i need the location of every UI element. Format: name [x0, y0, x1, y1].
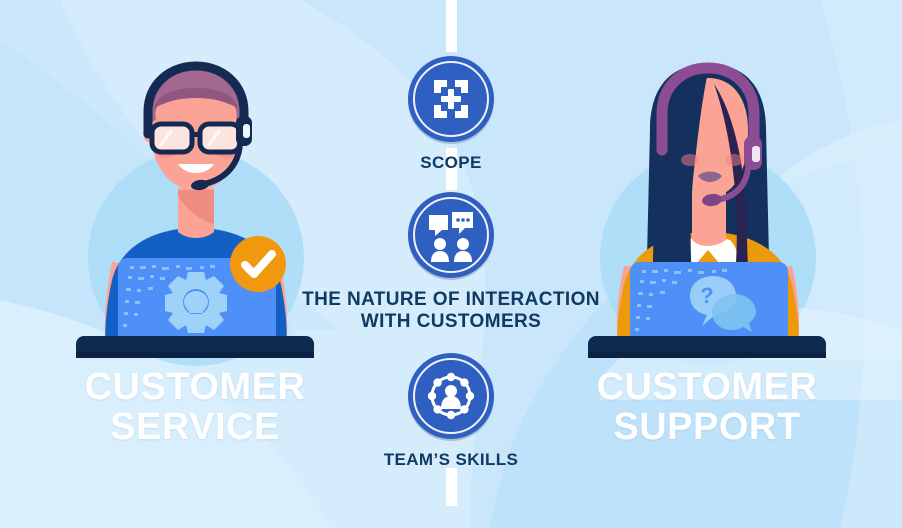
gear-lightbulb-icon	[165, 272, 227, 333]
chat-bubbles-two-people-icon	[408, 192, 494, 278]
svg-text:?: ?	[700, 283, 713, 308]
right-panel-title: CUSTOMER SUPPORT	[542, 368, 872, 448]
axis-label-nature-of-interaction: THE NATURE OF INTERACTION WITH CUSTOMERS	[301, 289, 601, 333]
divider-segment-bottom	[446, 468, 457, 506]
axis-label-scope: SCOPE	[301, 153, 601, 173]
interaction-badge[interactable]	[408, 192, 494, 278]
axis-label-team-skills: TEAM’S SKILLS	[301, 450, 601, 470]
scope-badge[interactable]	[408, 56, 494, 142]
axis-item-scope[interactable]: SCOPE	[301, 56, 601, 173]
divider-segment-top	[446, 0, 457, 52]
left-panel-title: CUSTOMER SERVICE	[30, 368, 360, 448]
female-support-agent: ?	[588, 64, 826, 358]
comparison-axis-column: SCOPE	[301, 0, 601, 528]
orange-check-badge	[230, 236, 286, 292]
left-title-line-2: SERVICE	[30, 408, 360, 448]
left-title-line-1: CUSTOMER	[85, 366, 306, 408]
right-title-line-1: CUSTOMER	[597, 366, 818, 408]
axis-label-line-2: WITH CUSTOMERS	[361, 311, 541, 332]
scope-crosshair-plus-icon	[408, 56, 494, 142]
team-skills-badge[interactable]	[408, 353, 494, 439]
infographic-canvas: ?	[0, 0, 902, 528]
axis-item-nature-of-interaction[interactable]: THE NATURE OF INTERACTION WITH CUSTOMERS	[301, 192, 601, 333]
right-title-line-2: SUPPORT	[542, 408, 872, 448]
person-in-network-icon	[408, 353, 494, 439]
laptop-right: ?	[628, 262, 790, 348]
male-support-agent	[76, 66, 314, 358]
axis-label-line-1: THE NATURE OF INTERACTION	[302, 289, 600, 310]
